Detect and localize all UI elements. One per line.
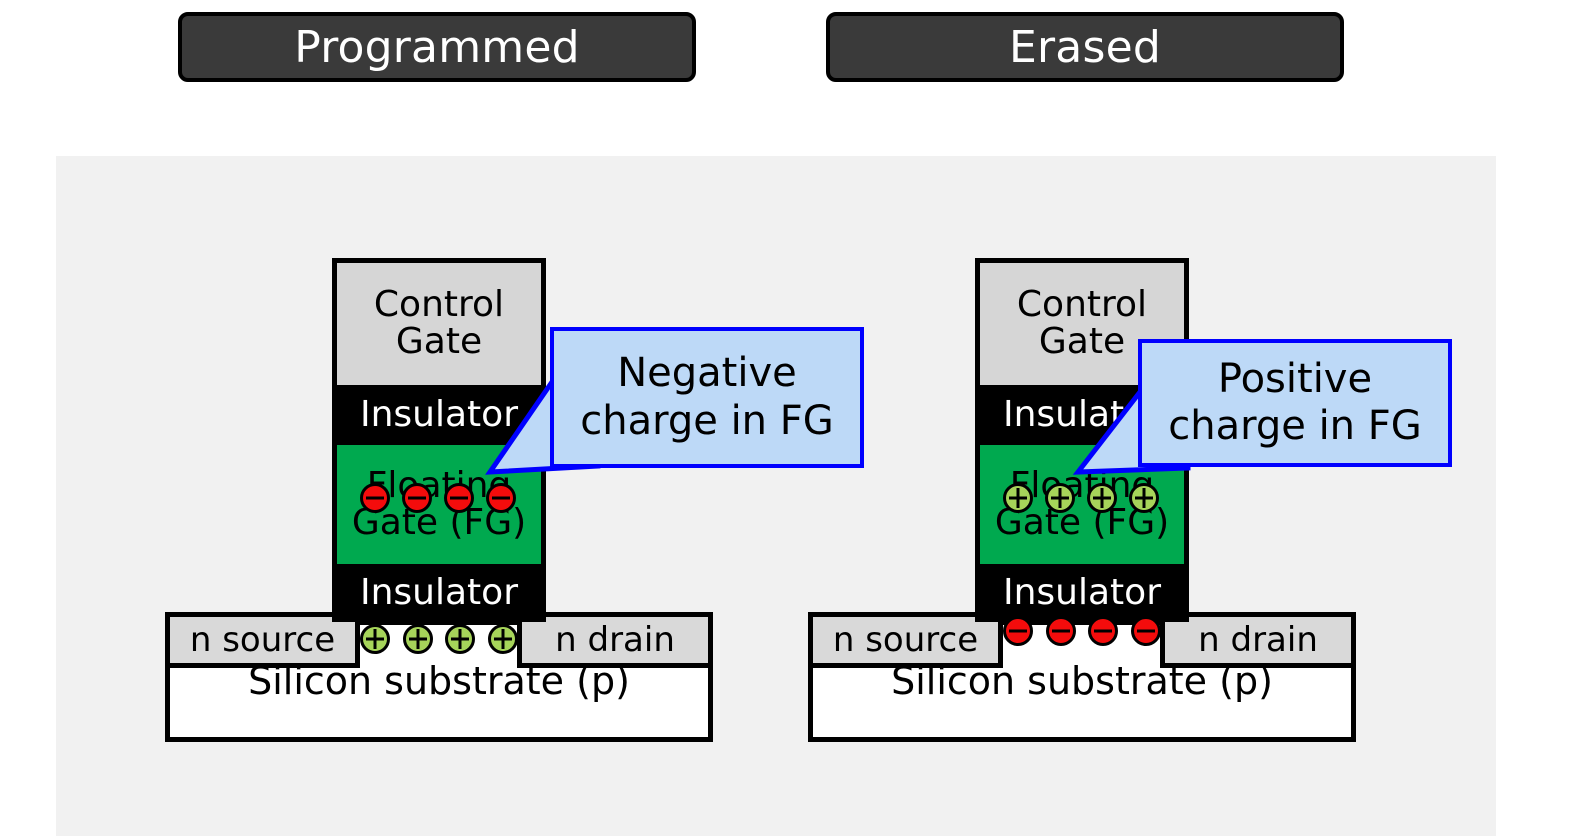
callout-positive-charge: Positive charge in FG <box>1138 339 1452 467</box>
negative-charge-icon <box>1046 616 1076 646</box>
positive-charge-icon <box>1129 483 1159 513</box>
positive-charge-icon <box>1003 483 1033 513</box>
n-drain-region: n drain <box>1160 612 1356 668</box>
n-source-region: n source <box>808 612 1003 668</box>
negative-charge-icon <box>486 483 516 513</box>
bottom-insulator-label: Insulator <box>360 575 518 612</box>
header-pill-programmed: Programmed <box>178 12 696 82</box>
n-source-region: n source <box>165 612 360 668</box>
negative-charge-icon <box>1088 616 1118 646</box>
positive-charge-icon <box>360 624 390 654</box>
callout-right-line2: charge in FG <box>1168 403 1422 450</box>
positive-charge-icon <box>1045 483 1075 513</box>
positive-charge-icon <box>1087 483 1117 513</box>
negative-charge-icon <box>360 483 390 513</box>
callout-left-line1: Negative <box>617 350 797 397</box>
control-gate-layer: Control Gate <box>332 258 546 385</box>
top-insulator-layer: Insulator <box>332 385 546 445</box>
bottom-insulator-layer: Insulator <box>332 564 546 622</box>
channel-charge-group <box>360 624 518 654</box>
negative-charge-icon <box>1003 616 1033 646</box>
callout-left-line2: charge in FG <box>580 398 834 445</box>
n-source-label: n source <box>833 620 978 660</box>
positive-charge-icon <box>445 624 475 654</box>
n-source-label: n source <box>190 620 335 660</box>
negative-charge-icon <box>444 483 474 513</box>
control-gate-label-line2: Gate <box>396 324 482 361</box>
positive-charge-icon <box>403 624 433 654</box>
channel-charge-group <box>1003 616 1161 646</box>
control-gate-label-line2: Gate <box>1039 324 1125 361</box>
header-pill-programmed-label: Programmed <box>294 22 580 73</box>
header-pill-erased: Erased <box>826 12 1344 82</box>
gate-stack: Control Gate Insulator Floating Gate (FG… <box>332 258 546 622</box>
n-drain-label: n drain <box>1198 620 1318 660</box>
positive-charge-icon <box>488 624 518 654</box>
control-gate-label-line1: Control <box>374 287 504 324</box>
control-gate-label-line1: Control <box>1017 287 1147 324</box>
bottom-insulator-layer: Insulator <box>975 564 1189 622</box>
bottom-insulator-label: Insulator <box>1003 575 1161 612</box>
negative-charge-icon <box>402 483 432 513</box>
header-pill-erased-label: Erased <box>1009 22 1161 73</box>
callout-right-line1: Positive <box>1218 356 1372 403</box>
n-drain-region: n drain <box>517 612 713 668</box>
diagram-stage: Programmed Erased Silicon substrate (p) … <box>0 0 1588 818</box>
floating-gate-charge-group <box>1003 483 1159 513</box>
floating-gate-charge-group <box>360 483 516 513</box>
callout-negative-charge: Negative charge in FG <box>550 327 864 468</box>
n-drain-label: n drain <box>555 620 675 660</box>
negative-charge-icon <box>1131 616 1161 646</box>
top-insulator-label: Insulator <box>360 397 518 434</box>
